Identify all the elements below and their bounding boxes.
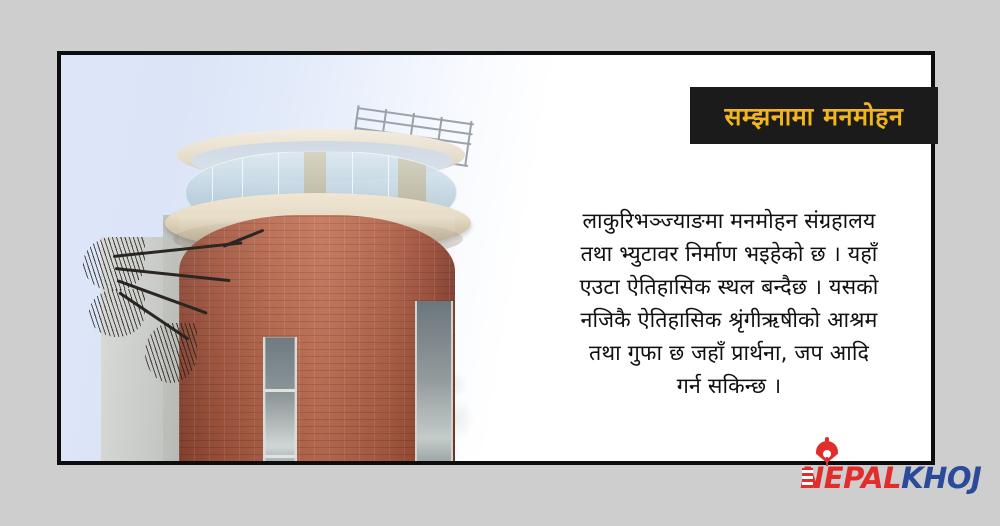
tower-photo: [61, 55, 581, 461]
article-line: एउटा ऐतिहासिक स्थल बन्दैछ । यसको: [549, 271, 909, 304]
article-line: तथा भ्युटावर निर्माण भइहेको छ । यहाँ: [549, 238, 909, 271]
headline-banner: सम्झनामा मनमोहन: [690, 87, 938, 144]
nepalkhoj-logo[interactable]: NEPALKHOJ: [800, 437, 950, 499]
logo-wordmark: NEPALKHOJ: [800, 464, 981, 493]
article-line: तथा गुफा छ जहाँ प्रार्थना, जप आदि: [549, 337, 909, 370]
article-line: गर्न सकिन्छ ।: [549, 370, 909, 403]
logo-n-stripes: [802, 468, 813, 488]
headline-text: सम्झनामा मनमोहन: [724, 99, 903, 133]
pine-branches: [105, 231, 285, 421]
logo-word-khoj: KHOJ: [901, 461, 981, 495]
tower-window-right: [415, 301, 453, 461]
article-body: लाकुरिभञ्ज्याङमा मनमोहन संग्रहालय तथा भ्…: [549, 205, 909, 403]
article-line: लाकुरिभञ्ज्याङमा मनमोहन संग्रहालय: [549, 205, 909, 238]
logo-word-nepal: NEPAL: [800, 461, 901, 495]
article-line: नजिकै ऐतिहासिक श्रृंगीऋषीको आश्रम: [549, 304, 909, 337]
poster-canvas: लाकुरिभञ्ज्याङमा मनमोहन संग्रहालय तथा भ्…: [0, 0, 1000, 526]
